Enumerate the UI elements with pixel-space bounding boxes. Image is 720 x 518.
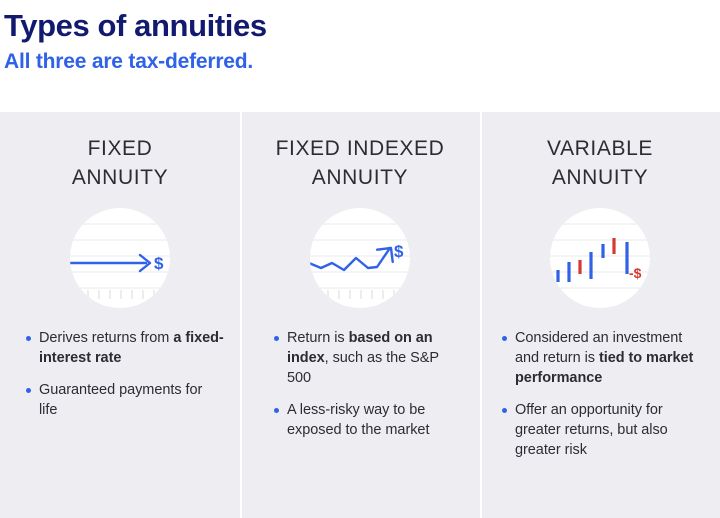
dollar-label: $ xyxy=(154,254,164,273)
flat-line-arrow-to-dollar-icon: $ xyxy=(60,206,180,310)
candlestick-bars-negative-dollar-icon: -$ xyxy=(540,206,660,310)
bullet-text: Considered an investment and return is t… xyxy=(515,328,704,388)
column-heading-fixed-annuity: FIXED ANNUITY xyxy=(72,134,168,192)
column-heading-line1: VARIABLE xyxy=(547,134,653,163)
bullet-dot-icon xyxy=(502,408,507,413)
column-heading-line2: ANNUITY xyxy=(547,163,653,192)
bullet-dot-icon xyxy=(502,336,507,341)
page-subtitle: All three are tax-deferred. xyxy=(4,47,720,77)
column-fixed-indexed-annuity: FIXED INDEXED ANNUITY xyxy=(240,112,480,518)
bullet-text: A less-risky way to be exposed to the ma… xyxy=(287,400,464,440)
page-title: Types of annuities xyxy=(4,6,720,46)
column-heading-variable-annuity: VARIABLE ANNUITY xyxy=(547,134,653,192)
column-fixed-annuity: FIXED ANNUITY xyxy=(0,112,240,518)
bullet-text: Offer an opportunity for greater returns… xyxy=(515,400,704,460)
list-item: Derives returns from a fixed-interest ra… xyxy=(26,328,224,368)
column-variable-annuity: VARIABLE ANNUITY xyxy=(480,112,720,518)
annuity-types-panel: FIXED ANNUITY xyxy=(0,112,720,518)
bullet-list-fixed-annuity: Derives returns from a fixed-interest ra… xyxy=(16,328,224,420)
column-heading-line2: ANNUITY xyxy=(72,163,168,192)
column-heading-fixed-indexed-annuity: FIXED INDEXED ANNUITY xyxy=(276,134,445,192)
bullet-dot-icon xyxy=(26,336,31,341)
bullet-dot-icon xyxy=(274,336,279,341)
bullet-list-fixed-indexed-annuity: Return is based on an index, such as the… xyxy=(256,328,464,440)
bullet-dot-icon xyxy=(274,408,279,413)
negative-dollar-label: -$ xyxy=(629,265,642,281)
list-item: Guaranteed payments for life xyxy=(26,380,224,420)
list-item: Offer an opportunity for greater returns… xyxy=(502,400,704,460)
list-item: Considered an investment and return is t… xyxy=(502,328,704,388)
bullet-list-variable-annuity: Considered an investment and return is t… xyxy=(496,328,704,460)
dollar-label: $ xyxy=(394,242,404,261)
bullet-text: Derives returns from a fixed-interest ra… xyxy=(39,328,224,368)
list-item: Return is based on an index, such as the… xyxy=(274,328,464,388)
page-header: Types of annuities All three are tax-def… xyxy=(0,0,720,77)
bullet-dot-icon xyxy=(26,388,31,393)
column-heading-line1: FIXED INDEXED xyxy=(276,134,445,163)
list-item: A less-risky way to be exposed to the ma… xyxy=(274,400,464,440)
bullet-text: Guaranteed payments for life xyxy=(39,380,224,420)
column-heading-line2: ANNUITY xyxy=(276,163,445,192)
bullet-text: Return is based on an index, such as the… xyxy=(287,328,464,388)
zigzag-uptrend-arrow-to-dollar-icon: $ xyxy=(300,206,420,310)
column-heading-line1: FIXED xyxy=(72,134,168,163)
